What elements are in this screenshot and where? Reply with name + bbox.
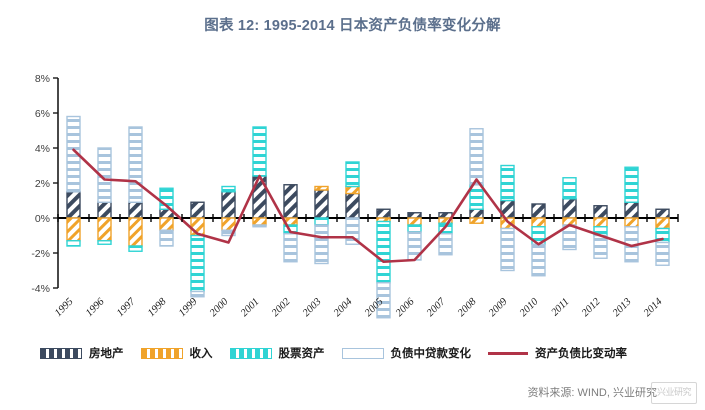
legend-swatch-income [141,348,183,359]
bar-segment [160,230,173,246]
legend-label-loan-change: 负债中贷款变化 [391,345,472,361]
svg-text:0%: 0% [35,213,50,225]
bar-segment [315,187,328,191]
bar-segment [656,243,669,266]
bar-segment [408,225,421,232]
legend-swatch-equity-assets [230,348,272,359]
bar-segment [191,236,204,292]
legend-label-leverage-change: 资产负债比变动率 [535,345,627,361]
bar-segment [129,246,142,251]
bar-segment [594,236,607,259]
bar-segment [98,241,111,245]
svg-text:2000: 2000 [208,296,231,319]
bar-segment [129,218,142,246]
bar-segment [129,127,142,202]
bar-segment [67,192,80,218]
svg-text:2009: 2009 [487,296,510,319]
svg-text:2002: 2002 [270,296,293,319]
legend-swatch-real-estate [40,348,82,359]
svg-text:2013: 2013 [611,296,634,319]
bar-segment [656,209,669,218]
bar-segment [346,187,359,194]
bar-segment [439,213,452,218]
bar-segment [284,234,297,262]
bar-segment [625,167,638,202]
bar-segment [315,190,328,218]
bar-segment [346,194,359,219]
svg-text:2006: 2006 [394,296,417,319]
bar-segment [563,178,576,199]
bar-segment [129,202,142,218]
legend-label-equity-assets: 股票资产 [279,345,325,361]
bar-segment [625,202,638,218]
svg-text:2012: 2012 [580,296,603,319]
svg-text:-2%: -2% [31,248,50,260]
svg-text:2014: 2014 [642,296,665,319]
bar-segment [377,209,390,218]
bar-segment [594,206,607,218]
bar-segment [67,241,80,246]
bar-segment [346,162,359,187]
bar-segment [625,218,638,227]
svg-text:2001: 2001 [239,296,262,319]
bar-segment [408,213,421,218]
bar-segment [408,218,421,225]
svg-text:2003: 2003 [301,296,324,319]
svg-text:1999: 1999 [177,296,200,319]
svg-text:2004: 2004 [332,296,355,319]
bar-segment [222,218,235,230]
chart-container: 图表 12: 1995-2014 日本资产负债率变化分解 -4%-2%0%2%4… [0,0,705,410]
bar-segment [532,204,545,218]
svg-text:2007: 2007 [425,296,448,319]
svg-text:1998: 1998 [146,296,169,319]
legend-item-equity-assets[interactable]: 股票资产 [230,345,325,361]
bar-segment [253,127,266,176]
svg-text:1995: 1995 [53,296,76,319]
source-note: 资料来源: WIND, 兴业研究 [527,384,657,400]
svg-text:2010: 2010 [518,296,541,319]
bar-segment [315,225,328,264]
bar-segment [253,218,266,225]
legend-label-real-estate: 房地产 [89,345,124,361]
svg-text:2008: 2008 [456,296,479,319]
bar-segment [253,225,266,227]
bar-segment [563,199,576,218]
svg-text:6%: 6% [35,108,50,120]
bar-segment [191,202,204,218]
svg-text:8%: 8% [35,73,50,85]
bar-segment [191,292,204,297]
bar-segment [222,192,235,218]
bar-segment [222,187,235,192]
bar-segment [377,222,390,283]
watermark-logo: 兴业研究 [651,382,697,404]
svg-text:1997: 1997 [115,296,138,319]
legend-item-loan-change[interactable]: 负债中贷款变化 [342,345,472,361]
svg-text:1996: 1996 [84,296,107,319]
svg-text:-4%: -4% [31,283,50,295]
bar-segment [67,218,80,241]
bar-segment [284,185,297,218]
chart-legend: 房地产 收入 股票资产 负债中贷款变化 资产负债比变动率 [40,340,680,366]
bar-segment [532,244,545,276]
bar-segment [98,218,111,241]
bar-segment [470,218,483,223]
bar-segment [501,229,514,271]
bar-segment [501,166,514,201]
svg-text:2011: 2011 [550,296,572,318]
bar-segment [439,234,452,255]
legend-item-income[interactable]: 收入 [141,345,213,361]
bar-segment [594,218,607,227]
legend-item-real-estate[interactable]: 房地产 [40,345,124,361]
legend-swatch-loan-change [342,348,384,359]
legend-item-leverage-change[interactable]: 资产负债比变动率 [488,345,627,361]
svg-text:4%: 4% [35,143,50,155]
bar-segment [160,218,173,230]
bar-segment [470,129,483,185]
legend-swatch-leverage-change [488,352,528,355]
bar-segment [470,209,483,218]
bar-segment [656,218,669,229]
legend-label-income: 收入 [190,345,213,361]
svg-text:2%: 2% [35,178,50,190]
bar-segment [532,218,545,227]
bar-segment [98,202,111,218]
bar-segment [315,218,328,225]
